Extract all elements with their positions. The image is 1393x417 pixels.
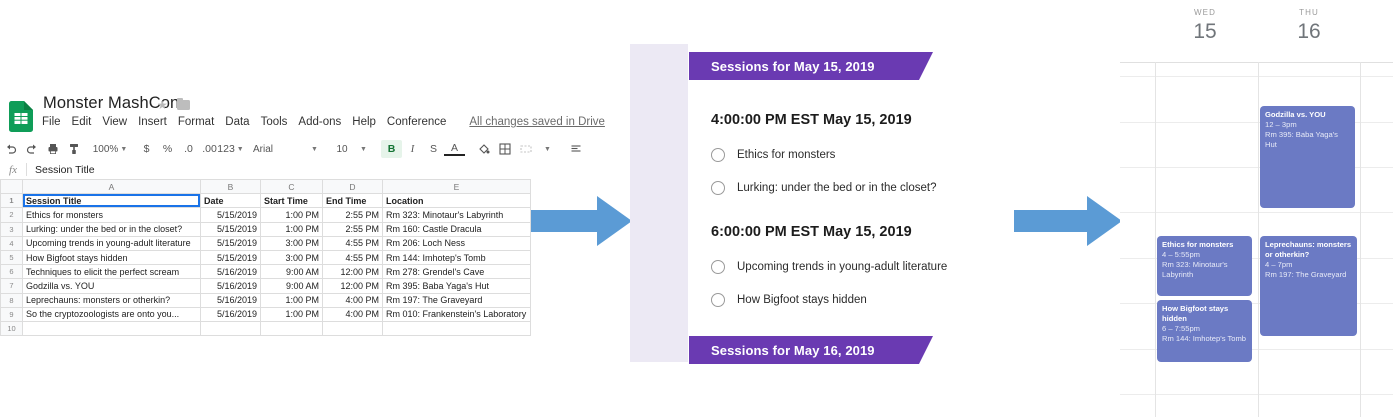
event-location: Rm 197: The Graveyard [1265, 270, 1352, 280]
column-header-row: A B C D E [1, 180, 531, 194]
menu-item-data[interactable]: Data [225, 116, 249, 128]
section-time-heading-1: 4:00:00 PM EST May 15, 2019 [689, 112, 960, 128]
radio-button-icon[interactable] [711, 293, 725, 307]
event-location: Rm 323: Minotaur's Labyrinth [1162, 260, 1247, 280]
cell-b4[interactable]: 5/15/2019 [201, 236, 261, 250]
table-row[interactable]: 9 So the cryptozoologists are onto you..… [1, 307, 531, 321]
number-format-label: 123 [217, 143, 235, 155]
cell-d5[interactable]: 4:55 PM [323, 250, 383, 264]
column-header-d[interactable]: D [323, 180, 383, 194]
cell-d4[interactable]: 4:55 PM [323, 236, 383, 250]
cell-d3[interactable]: 2:55 PM [323, 222, 383, 236]
column-header-a[interactable]: A [23, 180, 201, 194]
row-header-8[interactable]: 8 [1, 293, 23, 307]
folder-icon[interactable] [177, 100, 190, 110]
event-title: How Bigfoot stays hidden [1162, 304, 1247, 324]
form-option[interactable]: Lurking: under the bed or in the closet? [689, 181, 960, 195]
cell-d7[interactable]: 12:00 PM [323, 279, 383, 293]
percent-button[interactable]: % [157, 140, 178, 158]
column-header-b[interactable]: B [201, 180, 261, 194]
cell-d1[interactable]: End Time [323, 194, 383, 208]
formula-bar[interactable]: fx Session Title [0, 160, 531, 180]
cell-a7[interactable]: Godzilla vs. YOU [23, 279, 201, 293]
row-header-1[interactable]: 1 [1, 194, 23, 208]
flow-arrow-2 [1014, 196, 1122, 246]
event-title: Ethics for monsters [1162, 240, 1247, 250]
screenshot-stage: Monster MashCon ★ File Edit View Insert … [0, 0, 1393, 417]
cell-b3[interactable]: 5/15/2019 [201, 222, 261, 236]
font-dropdown-caret[interactable]: ▼ [303, 140, 324, 158]
table-row[interactable]: 3 Lurking: under the bed or in the close… [1, 222, 531, 236]
column-header-e[interactable]: E [383, 180, 531, 194]
menu-item-edit[interactable]: Edit [72, 116, 92, 128]
title-icon-group: ★ [157, 99, 190, 111]
row-header-9[interactable]: 9 [1, 307, 23, 321]
row-header-3[interactable]: 3 [1, 222, 23, 236]
google-form-panel: Sessions for May 15, 2019 4:00:00 PM EST… [630, 44, 960, 362]
spreadsheet-table: A B C D E 1 Session Title Date Start Tim… [0, 179, 531, 336]
row-header-6[interactable]: 6 [1, 265, 23, 279]
row-header-5[interactable]: 5 [1, 250, 23, 264]
menu-item-file[interactable]: File [42, 116, 61, 128]
cell-b10[interactable] [201, 321, 261, 335]
calendar-event[interactable]: Leprechauns: monsters or otherkin? 4 – 7… [1260, 236, 1357, 336]
chevron-down-icon: ▼ [311, 146, 318, 153]
form-content: Sessions for May 15, 2019 4:00:00 PM EST… [689, 44, 960, 362]
number-format-button[interactable]: 123▼ [220, 140, 241, 158]
menu-item-tools[interactable]: Tools [261, 116, 288, 128]
menu-item-help[interactable]: Help [352, 116, 376, 128]
align-left-icon[interactable] [565, 140, 586, 158]
cell-e6[interactable]: Rm 278: Grendel's Cave [383, 265, 531, 279]
cell-e4[interactable]: Rm 206: Loch Ness [383, 236, 531, 250]
print-icon[interactable] [42, 140, 63, 158]
form-option-label: Upcoming trends in young-adult literatur… [737, 261, 947, 273]
undo-icon[interactable] [0, 140, 21, 158]
flow-arrow-1 [531, 196, 632, 246]
form-side-strip [630, 44, 688, 362]
calendar-day-divider [1155, 62, 1156, 417]
cell-e2[interactable]: Rm 323: Minotaur's Labyrinth [383, 208, 531, 222]
form-option-label: Ethics for monsters [737, 149, 835, 161]
save-status[interactable]: All changes saved in Drive [469, 116, 605, 128]
column-header-c[interactable]: C [261, 180, 323, 194]
cell-c4[interactable]: 3:00 PM [261, 236, 323, 250]
cell-c2[interactable]: 1:00 PM [261, 208, 323, 222]
borders-icon[interactable] [494, 140, 515, 158]
table-row[interactable]: 1 Session Title Date Start Time End Time… [1, 194, 531, 208]
menu-bar: File Edit View Insert Format Data Tools … [42, 116, 605, 128]
calendar-day-thu[interactable]: THU 16 [1259, 8, 1359, 44]
cell-c6[interactable]: 9:00 AM [261, 265, 323, 279]
cell-e8[interactable]: Rm 197: The Graveyard [383, 293, 531, 307]
select-all-corner[interactable] [1, 180, 23, 194]
strikethrough-button[interactable]: S [423, 140, 444, 158]
event-location: Rm 144: Imhotep's Tomb [1162, 334, 1247, 344]
calendar-header: WED 15 THU 16 [1120, 0, 1393, 63]
table-row[interactable]: 4 Upcoming trends in young-adult literat… [1, 236, 531, 250]
event-time: 12 – 3pm [1265, 120, 1350, 130]
event-time: 4 – 5:55pm [1162, 250, 1247, 260]
cell-a2[interactable]: Ethics for monsters [23, 208, 201, 222]
cell-e5[interactable]: Rm 144: Imhotep's Tomb [383, 250, 531, 264]
fill-color-icon[interactable] [473, 140, 494, 158]
calendar-day-wed[interactable]: WED 15 [1155, 8, 1255, 44]
cell-d10[interactable] [323, 321, 383, 335]
font-size-value[interactable]: 10 [332, 140, 352, 158]
calendar-event[interactable]: Godzilla vs. YOU 12 – 3pm Rm 395: Baba Y… [1260, 106, 1355, 208]
formula-value[interactable]: Session Title [27, 164, 95, 176]
chevron-down-icon: ▼ [120, 146, 127, 153]
font-name: Arial [253, 144, 273, 155]
text-color-button[interactable]: A [444, 142, 465, 156]
zoom-value: 100% [93, 144, 119, 155]
cell-d8[interactable]: 4:00 PM [323, 293, 383, 307]
calendar-event[interactable]: How Bigfoot stays hidden 6 – 7:55pm Rm 1… [1157, 300, 1252, 362]
cell-b5[interactable]: 5/15/2019 [201, 250, 261, 264]
cell-b1[interactable]: Date [201, 194, 261, 208]
cell-d2[interactable]: 2:55 PM [323, 208, 383, 222]
menu-item-insert[interactable]: Insert [138, 116, 167, 128]
fx-label: fx [0, 164, 26, 176]
calendar-day-divider [1360, 62, 1361, 417]
cell-e9[interactable]: Rm 010: Frankenstein's Laboratory [383, 307, 531, 321]
chevron-down-icon: ▼ [360, 146, 367, 153]
redo-icon[interactable] [21, 140, 42, 158]
table-row[interactable]: 10 [1, 321, 531, 335]
bold-button[interactable]: B [381, 140, 402, 158]
cell-a3[interactable]: Lurking: under the bed or in the closet? [23, 222, 201, 236]
cell-b6[interactable]: 5/16/2019 [201, 265, 261, 279]
font-size-caret[interactable]: ▼ [352, 140, 373, 158]
table-row[interactable]: 6 Techniques to elicit the perfect screa… [1, 265, 531, 279]
cell-e3[interactable]: Rm 160: Castle Dracula [383, 222, 531, 236]
day-number-label: 16 [1259, 20, 1359, 44]
cell-c8[interactable]: 1:00 PM [261, 293, 323, 307]
cell-a5[interactable]: How Bigfoot stays hidden [23, 250, 201, 264]
cell-b2[interactable]: 5/15/2019 [201, 208, 261, 222]
form-option-label: How Bigfoot stays hidden [737, 294, 867, 306]
event-title: Godzilla vs. YOU [1265, 110, 1350, 120]
cell-a6[interactable]: Techniques to elicit the perfect scream [23, 265, 201, 279]
row-header-7[interactable]: 7 [1, 279, 23, 293]
decrease-decimal-button[interactable]: .0 [178, 140, 199, 158]
calendar-hour-line [1120, 394, 1393, 395]
cell-b8[interactable]: 5/16/2019 [201, 293, 261, 307]
zoom-selector[interactable]: 100%▼ [92, 140, 128, 158]
day-of-week-label: WED [1155, 8, 1255, 17]
chevron-down-icon: ▼ [237, 146, 244, 153]
cell-c9[interactable]: 1:00 PM [261, 307, 323, 321]
calendar-day-divider [1258, 62, 1259, 417]
row-header-10[interactable]: 10 [1, 321, 23, 335]
cell-c1[interactable]: Start Time [261, 194, 323, 208]
table-row[interactable]: 2 Ethics for monsters 5/15/2019 1:00 PM … [1, 208, 531, 222]
row-header-2[interactable]: 2 [1, 208, 23, 222]
table-row[interactable]: 8 Leprechauns: monsters or otherkin? 5/1… [1, 293, 531, 307]
cell-b9[interactable]: 5/16/2019 [201, 307, 261, 321]
cell-b7[interactable]: 5/16/2019 [201, 279, 261, 293]
sheets-toolbar: 100%▼ $ % .0 .00 123▼ Arial ▼ 10 ▼ B I S… [0, 138, 531, 161]
menu-item-conference[interactable]: Conference [387, 116, 446, 128]
event-location: Rm 395: Baba Yaga's Hut [1265, 130, 1350, 150]
cell-a10[interactable] [23, 321, 201, 335]
form-option[interactable]: Ethics for monsters [689, 148, 960, 162]
cell-d9[interactable]: 4:00 PM [323, 307, 383, 321]
paint-format-icon[interactable] [63, 140, 84, 158]
sheets-logo-icon [9, 101, 34, 132]
calendar-hour-line [1120, 212, 1393, 213]
day-of-week-label: THU [1259, 8, 1359, 17]
font-selector[interactable]: Arial [249, 140, 303, 158]
day-number-label: 15 [1155, 20, 1255, 44]
event-title: Leprechauns: monsters or otherkin? [1265, 240, 1352, 260]
star-icon[interactable]: ★ [157, 99, 168, 111]
radio-button-icon[interactable] [711, 148, 725, 162]
section-time-heading-2: 6:00:00 PM EST May 15, 2019 [689, 224, 960, 240]
cell-e1[interactable]: Location [383, 194, 531, 208]
form-option[interactable]: Upcoming trends in young-adult literatur… [689, 260, 960, 274]
cell-a8[interactable]: Leprechauns: monsters or otherkin? [23, 293, 201, 307]
menu-item-view[interactable]: View [102, 116, 127, 128]
cell-e10[interactable] [383, 321, 531, 335]
form-section-banner-2: Sessions for May 16, 2019 [689, 336, 919, 364]
cell-a4[interactable]: Upcoming trends in young-adult literatur… [23, 236, 201, 250]
calendar-hour-line [1120, 76, 1393, 77]
calendar-grid[interactable]: Godzilla vs. YOU 12 – 3pm Rm 395: Baba Y… [1120, 62, 1393, 417]
cell-d6[interactable]: 12:00 PM [323, 265, 383, 279]
form-option-label: Lurking: under the bed or in the closet? [737, 182, 936, 194]
cell-c10[interactable] [261, 321, 323, 335]
google-sheets-panel: Monster MashCon ★ File Edit View Insert … [0, 92, 531, 318]
table-row[interactable]: 5 How Bigfoot stays hidden 5/15/2019 3:0… [1, 250, 531, 264]
form-section-banner-1: Sessions for May 15, 2019 [689, 52, 919, 80]
currency-button[interactable]: $ [136, 140, 157, 158]
radio-button-icon[interactable] [711, 181, 725, 195]
event-time: 4 – 7pm [1265, 260, 1352, 270]
table-row[interactable]: 7 Godzilla vs. YOU 5/16/2019 9:00 AM 12:… [1, 279, 531, 293]
chevron-down-icon: ▼ [544, 146, 551, 153]
event-time: 6 – 7:55pm [1162, 324, 1247, 334]
section-banner-label: Sessions for May 16, 2019 [711, 343, 875, 358]
merge-caret[interactable]: ▼ [536, 140, 557, 158]
cell-c3[interactable]: 1:00 PM [261, 222, 323, 236]
row-header-4[interactable]: 4 [1, 236, 23, 250]
section-banner-label: Sessions for May 15, 2019 [711, 59, 875, 74]
form-option[interactable]: How Bigfoot stays hidden [689, 293, 960, 307]
menu-item-addons[interactable]: Add-ons [298, 116, 341, 128]
google-calendar-panel: WED 15 THU 16 Godzilla vs. YOU 12 – 3pm [1120, 0, 1393, 417]
merge-cells-icon[interactable] [515, 140, 536, 158]
radio-button-icon[interactable] [711, 260, 725, 274]
cell-c7[interactable]: 9:00 AM [261, 279, 323, 293]
calendar-event[interactable]: Ethics for monsters 4 – 5:55pm Rm 323: M… [1157, 236, 1252, 296]
italic-button[interactable]: I [402, 140, 423, 158]
cell-c5[interactable]: 3:00 PM [261, 250, 323, 264]
cell-a9[interactable]: So the cryptozoologists are onto you... [23, 307, 201, 321]
cell-e7[interactable]: Rm 395: Baba Yaga's Hut [383, 279, 531, 293]
spreadsheet-grid[interactable]: A B C D E 1 Session Title Date Start Tim… [0, 179, 531, 318]
cell-a1[interactable]: Session Title [23, 194, 201, 208]
menu-item-format[interactable]: Format [178, 116, 214, 128]
